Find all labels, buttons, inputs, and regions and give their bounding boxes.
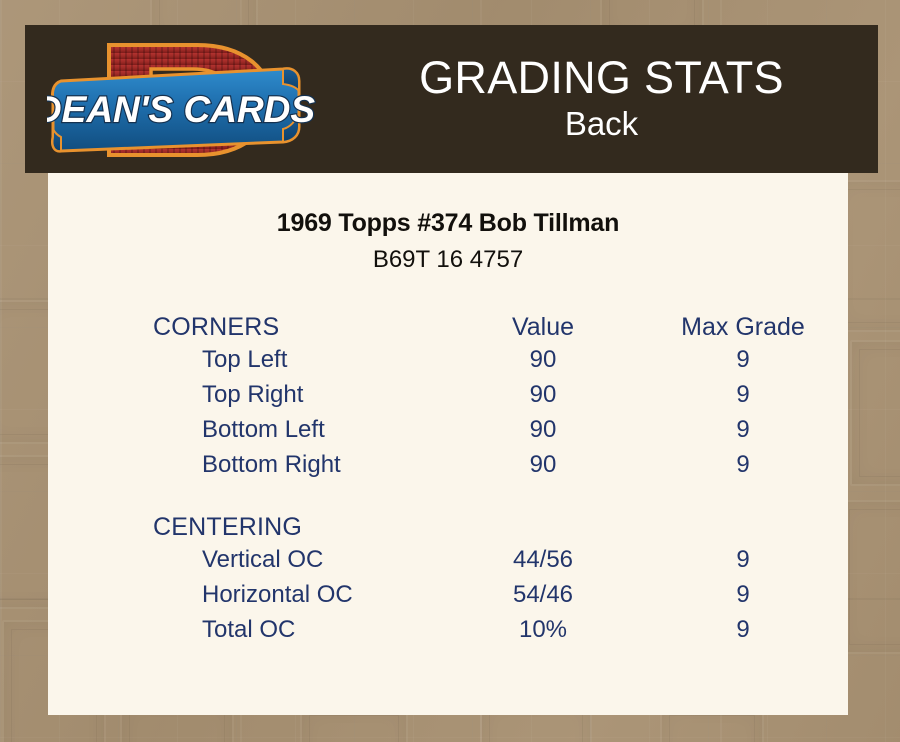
table-row: Top Right 90 9: [48, 377, 848, 412]
page-subtitle: Back: [565, 104, 638, 144]
row-max-grade: 9: [638, 542, 848, 577]
deans-cards-logo: DEAN'S CARDS: [47, 29, 325, 171]
row-value: 90: [448, 342, 638, 377]
row-max-grade: 9: [638, 577, 848, 612]
header-bar: DEAN'S CARDS GRADING STATS Back: [25, 25, 878, 173]
row-value: 90: [448, 412, 638, 447]
column-header-max-grade: Max Grade: [638, 298, 848, 342]
row-value: 10%: [448, 612, 638, 647]
table-row: Vertical OC 44/56 9: [48, 542, 848, 577]
row-label: Top Left: [48, 342, 448, 377]
row-max-grade: 9: [638, 612, 848, 647]
card-title: 1969 Topps #374 Bob Tillman: [48, 209, 848, 238]
row-max-grade: 9: [638, 342, 848, 377]
row-value: 90: [448, 377, 638, 412]
table-row: Bottom Left 90 9: [48, 412, 848, 447]
table-row: Total OC 10% 9: [48, 612, 848, 647]
grading-stats-table: CORNERS Value Max Grade Top Left 90 9 To…: [48, 298, 848, 647]
content-panel: 1969 Topps #374 Bob Tillman B69T 16 4757…: [48, 173, 848, 715]
row-value: 54/46: [448, 577, 638, 612]
watermark-card: [840, 500, 900, 654]
section-spacer: [48, 482, 848, 498]
row-label: Horizontal OC: [48, 577, 448, 612]
row-max-grade: 9: [638, 377, 848, 412]
row-label: Vertical OC: [48, 542, 448, 577]
table-row: Top Left 90 9: [48, 342, 848, 377]
card-identifier: B69T 16 4757: [48, 246, 848, 274]
row-label: Top Right: [48, 377, 448, 412]
section-title: CORNERS: [48, 298, 448, 342]
grading-stats-page: DEAN'S CARDS GRADING STATS Back 1969 Top…: [0, 0, 900, 742]
row-value: 90: [448, 447, 638, 482]
header-title-group: GRADING STATS Back: [325, 25, 878, 173]
row-max-grade: 9: [638, 447, 848, 482]
watermark-card: [850, 340, 900, 486]
row-max-grade: 9: [638, 412, 848, 447]
table-row: Horizontal OC 54/46 9: [48, 577, 848, 612]
section-header-row: CORNERS Value Max Grade: [48, 298, 848, 342]
row-label: Bottom Left: [48, 412, 448, 447]
page-title: GRADING STATS: [419, 55, 784, 102]
section-header-row: CENTERING: [48, 498, 848, 542]
row-label: Bottom Right: [48, 447, 448, 482]
logo-ribbon: DEAN'S CARDS: [47, 69, 315, 152]
table-row: Bottom Right 90 9: [48, 447, 848, 482]
section-title: CENTERING: [48, 498, 448, 542]
row-value: 44/56: [448, 542, 638, 577]
row-label: Total OC: [48, 612, 448, 647]
logo-ribbon-text: DEAN'S CARDS: [47, 89, 315, 130]
column-header-value: Value: [448, 298, 638, 342]
